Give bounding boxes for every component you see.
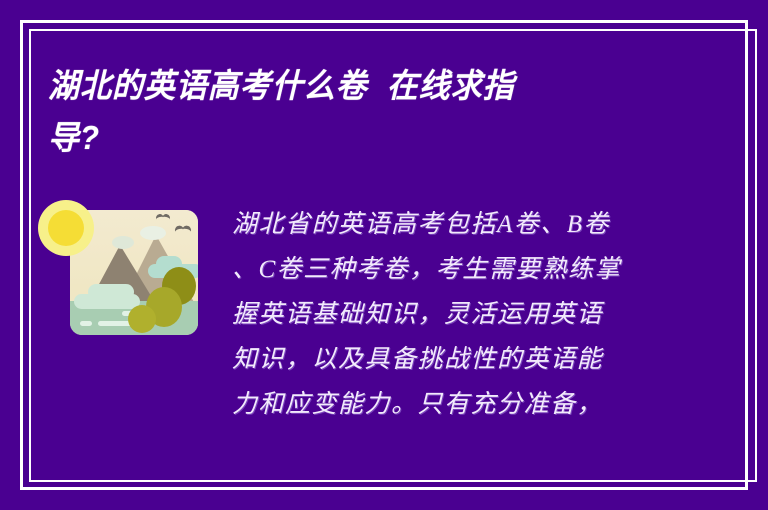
bird-icon — [175, 226, 191, 233]
snow-cap-icon — [140, 226, 166, 240]
poster-canvas: 湖北的英语高考什么卷 在线求指 导? — [0, 0, 768, 510]
bird-icon — [156, 214, 170, 220]
title-line-1: 湖北的英语高考什么卷 在线求指 — [48, 60, 612, 112]
tree-icon — [128, 305, 156, 333]
water-ripple — [80, 321, 92, 326]
body-line: 、C卷三种考卷，考生需要熟练掌 — [232, 247, 708, 292]
sun-core — [48, 210, 84, 246]
snow-patch-icon — [112, 236, 134, 249]
body-line: 力和应变能力。只有充分准备， — [232, 382, 708, 427]
page-title: 湖北的英语高考什么卷 在线求指 导? — [48, 60, 648, 164]
low-cloud-icon — [74, 294, 140, 309]
body-line: 湖北省的英语高考包括A卷、B卷 — [232, 202, 708, 247]
body-paragraph: 湖北省的英语高考包括A卷、B卷 、C卷三种考卷，考生需要熟练掌 握英语基础知识，… — [232, 202, 708, 427]
body-line: 知识，以及具备挑战性的英语能 — [232, 337, 708, 382]
title-line-2: 导? — [48, 112, 612, 164]
content-row: 湖北省的英语高考包括A卷、B卷 、C卷三种考卷，考生需要熟练掌 握英语基础知识，… — [52, 202, 708, 427]
sun-icon — [38, 200, 94, 256]
body-line: 握英语基础知识，灵活运用英语 — [232, 292, 708, 337]
landscape-illustration — [52, 202, 200, 355]
